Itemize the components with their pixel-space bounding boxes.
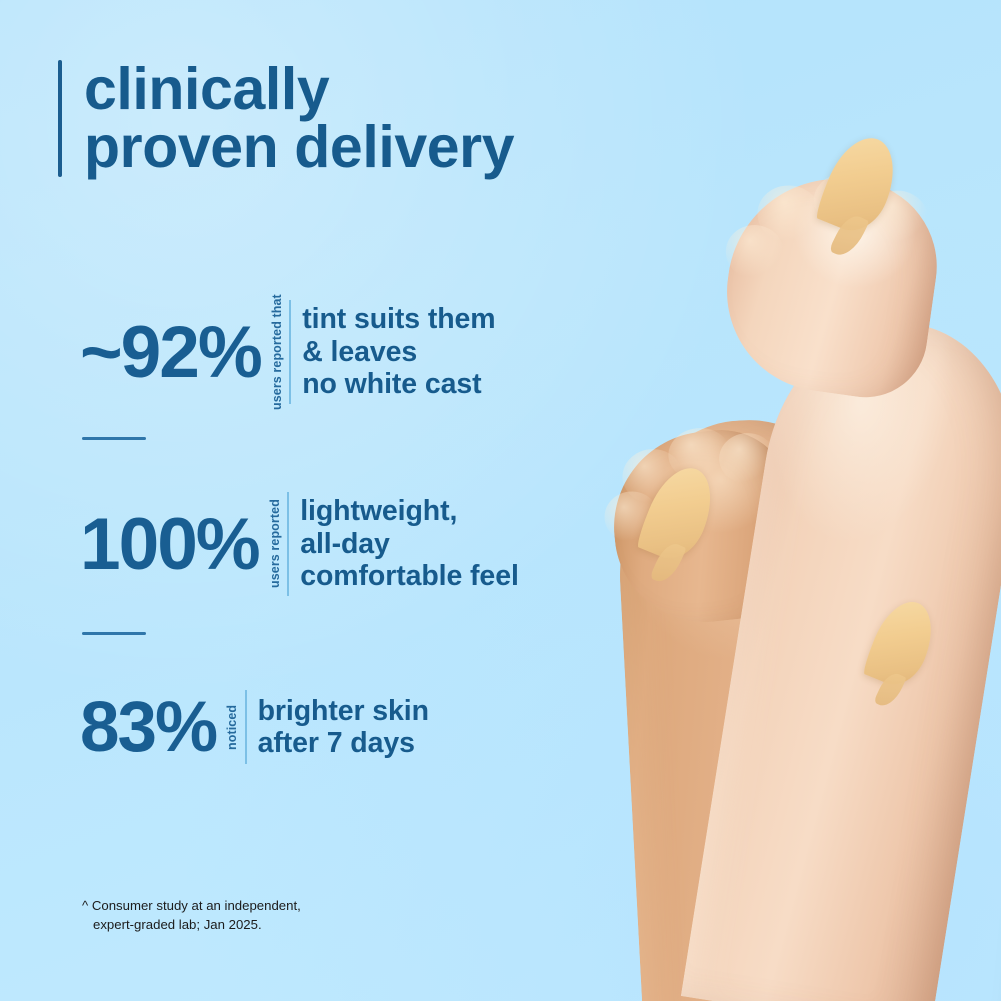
stat-qualifier: users reported: [268, 492, 282, 596]
hands-photograph: [520, 0, 1001, 1001]
stat-description-line-1: lightweight,: [300, 495, 519, 527]
stat-description: lightweight, all-day comfortable feel: [300, 495, 519, 592]
headline-line-2: proven delivery: [84, 118, 514, 176]
headline-line-1: clinically: [84, 60, 514, 118]
stat-description-line-2: after 7 days: [258, 727, 429, 759]
stat-qualifier-group: users reported that: [270, 300, 292, 404]
stat-figure: 100%: [80, 508, 259, 581]
stat-description-line-1: brighter skin: [258, 695, 429, 727]
stat-qualifier-group: noticed: [225, 690, 247, 764]
stat-description-line-2: all-day: [300, 528, 519, 560]
footnote: ^ Consumer study at an independent, expe…: [82, 897, 301, 934]
stat-qualifier-group: users reported: [268, 492, 290, 596]
stat-block-lightweight: 100% users reported lightweight, all-day…: [80, 492, 519, 596]
stat-vertical-rule: [245, 690, 247, 764]
stat-vertical-rule: [289, 300, 291, 404]
infographic-poster: clinically proven delivery ~92% users re…: [0, 0, 1001, 1001]
stat-qualifier: noticed: [225, 690, 239, 764]
footnote-line-1: ^ Consumer study at an independent,: [82, 897, 301, 916]
stat-block-tint-suits: ~92% users reported that tint suits them…: [80, 300, 496, 404]
stat-description-line-1: tint suits them: [302, 303, 495, 335]
footnote-line-2: expert-graded lab; Jan 2025.: [82, 916, 301, 935]
stat-qualifier: users reported that: [270, 300, 284, 404]
headline-block: clinically proven delivery: [58, 60, 514, 177]
stat-block-brighter-skin: 83% noticed brighter skin after 7 days: [80, 690, 429, 764]
stat-vertical-rule: [287, 492, 289, 596]
stat-description-line-2: & leaves: [302, 336, 495, 368]
page-title: clinically proven delivery: [84, 60, 514, 177]
stat-description: tint suits them & leaves no white cast: [302, 303, 495, 400]
section-divider: [82, 632, 146, 635]
stat-description-line-3: no white cast: [302, 368, 495, 400]
section-divider: [82, 437, 146, 440]
stat-figure: ~92%: [80, 316, 261, 389]
stat-figure: 83%: [80, 692, 216, 763]
stat-description-line-3: comfortable feel: [300, 560, 519, 592]
headline-accent-rule: [58, 60, 62, 177]
stat-description: brighter skin after 7 days: [258, 695, 429, 760]
